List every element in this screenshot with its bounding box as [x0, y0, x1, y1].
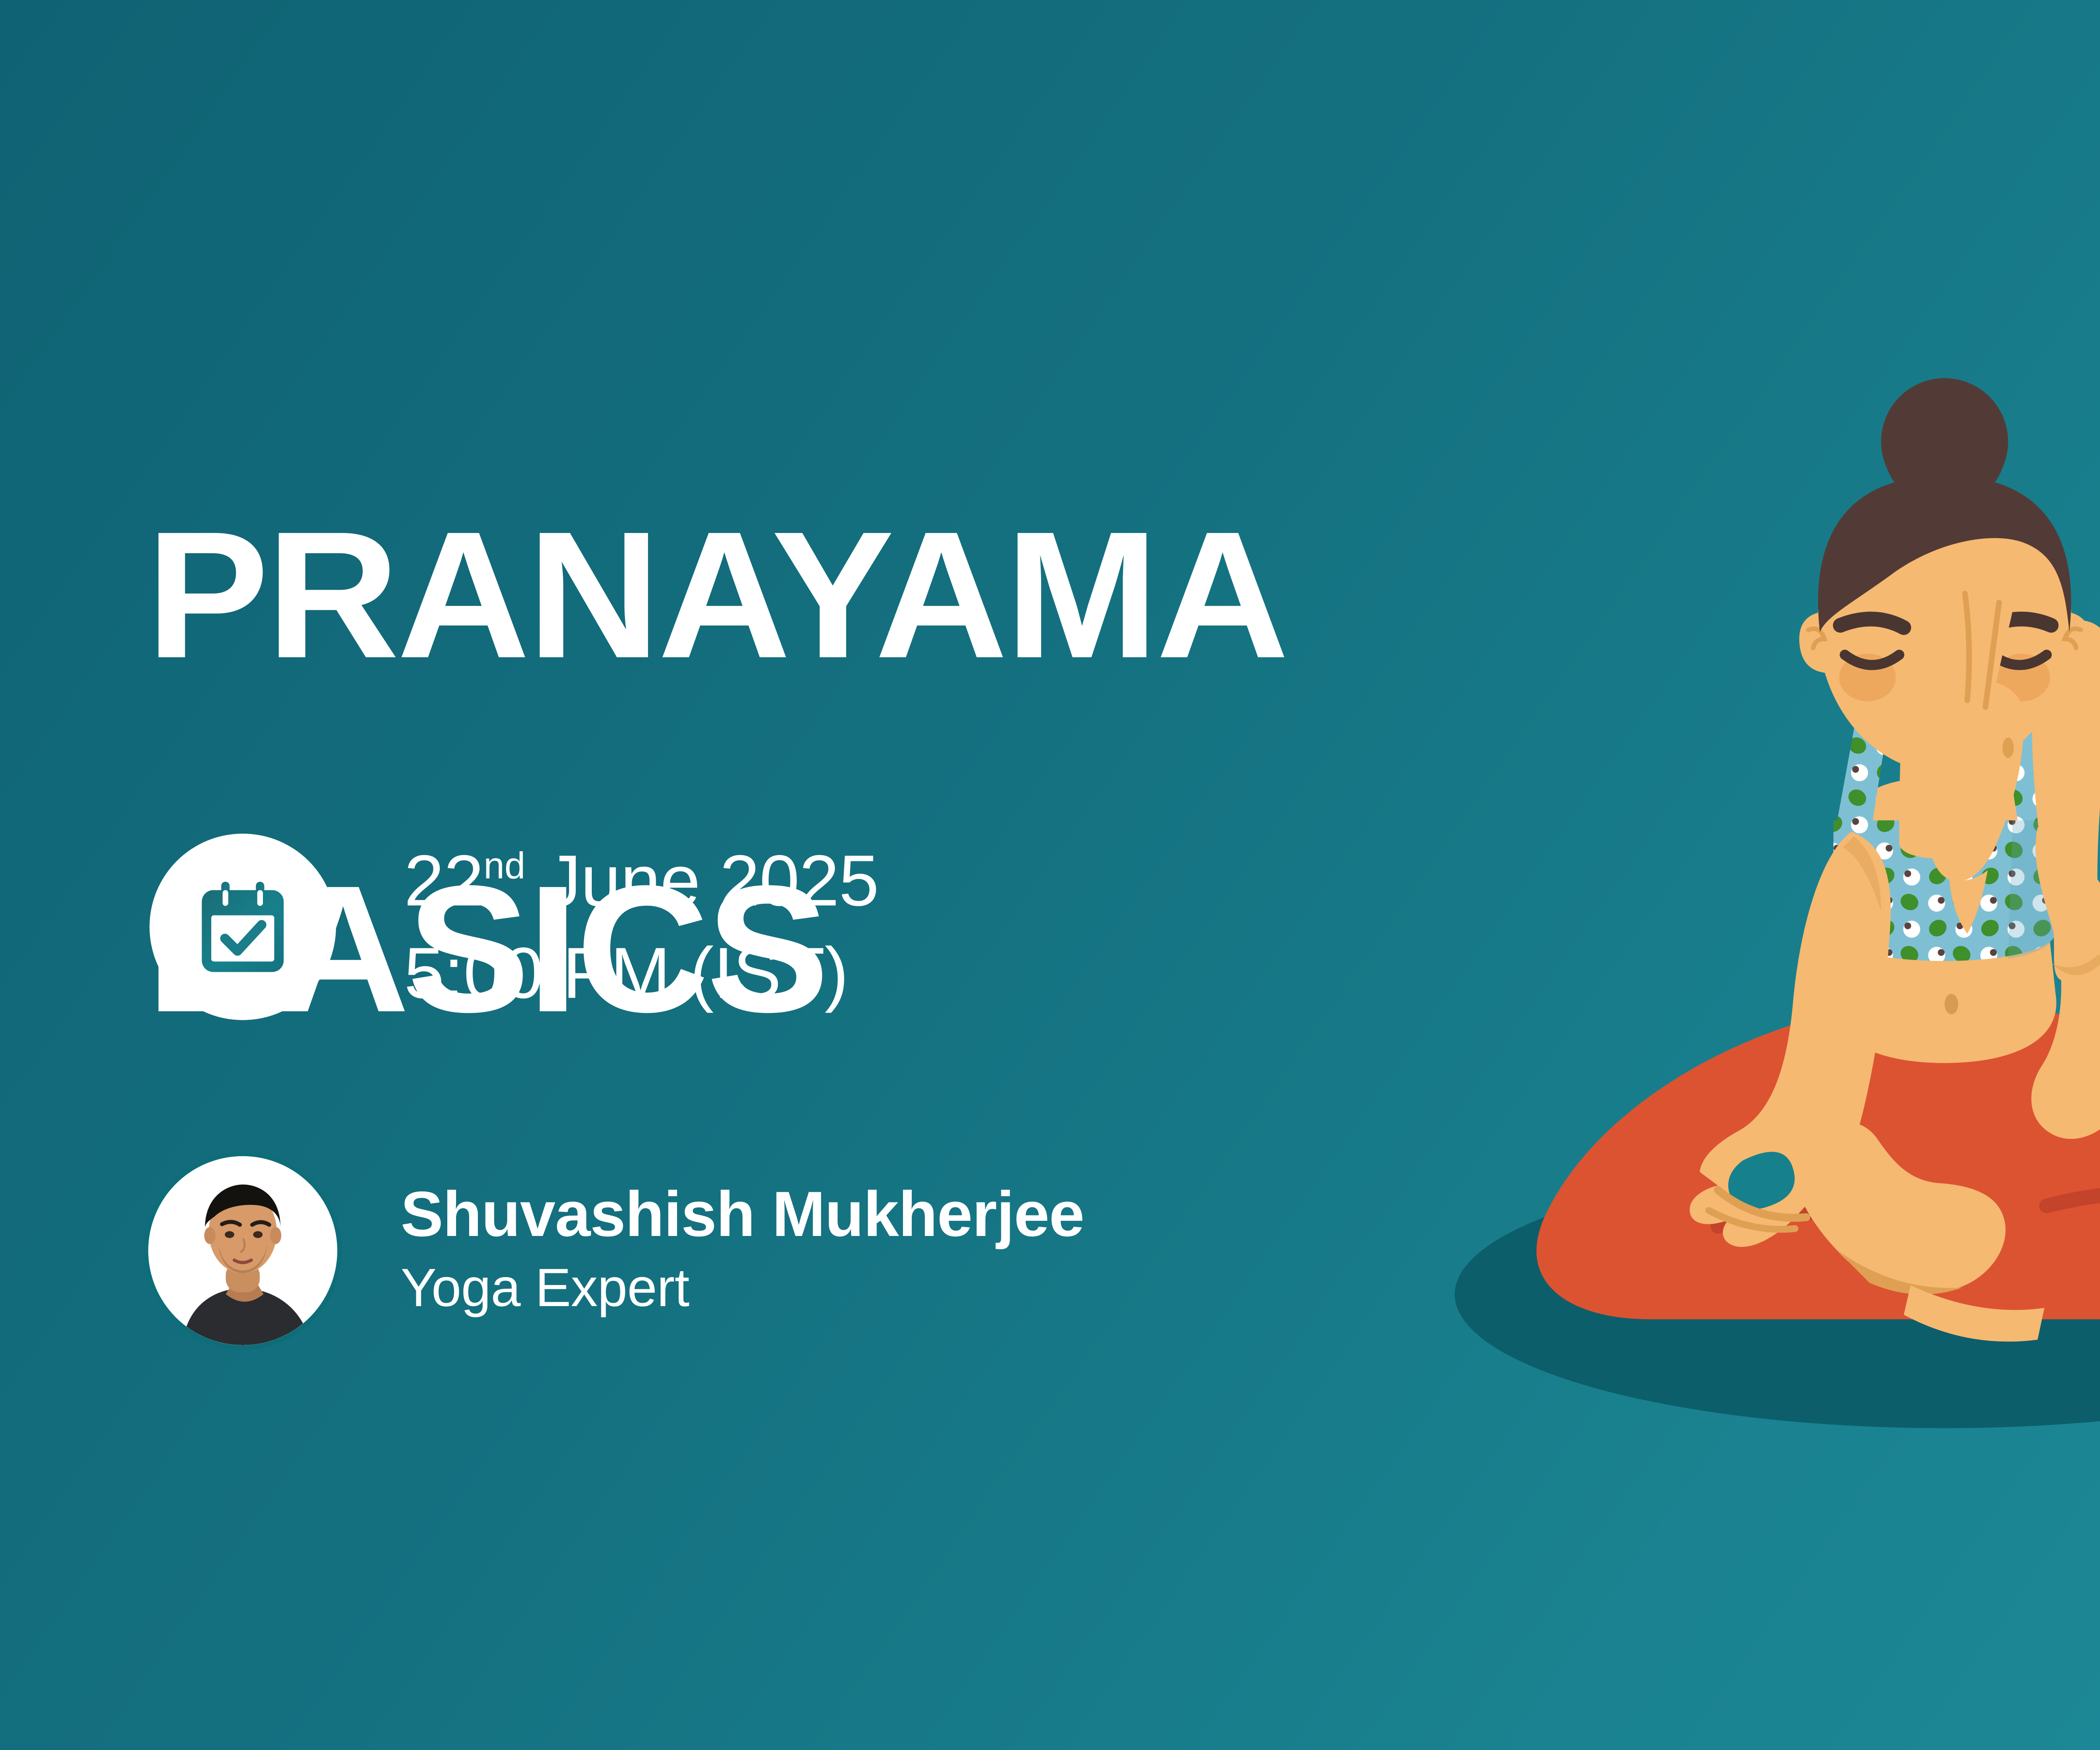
event-date-ordinal: nd: [483, 844, 525, 886]
event-date-day: 22: [404, 840, 483, 921]
calendar-check-icon: [190, 874, 295, 979]
avatar: [144, 1152, 342, 1350]
event-datetime-block: 22nd June 2025 5:00 PM (IST): [150, 834, 879, 1020]
speaker-role: Yoga Expert: [401, 1254, 1084, 1322]
poster-canvas: PRANAYAMA BASICS: [0, 0, 2100, 1750]
event-datetime-text: 22nd June 2025 5:00 PM (IST): [404, 834, 879, 1019]
calendar-badge: [150, 834, 336, 1020]
speaker-block: Shuvashish Mukherjee Yoga Expert: [144, 1152, 1084, 1350]
event-date-rest: June 2025: [525, 840, 879, 921]
woman-meditating-pranayama-illustration: [1378, 319, 2100, 1453]
speaker-info: Shuvashish Mukherjee Yoga Expert: [401, 1180, 1084, 1322]
speaker-portrait: [148, 1156, 337, 1345]
event-date: 22nd June 2025: [404, 834, 879, 927]
event-time: 5:00 PM (IST): [404, 927, 879, 1019]
speaker-name: Shuvashish Mukherjee: [401, 1180, 1084, 1249]
